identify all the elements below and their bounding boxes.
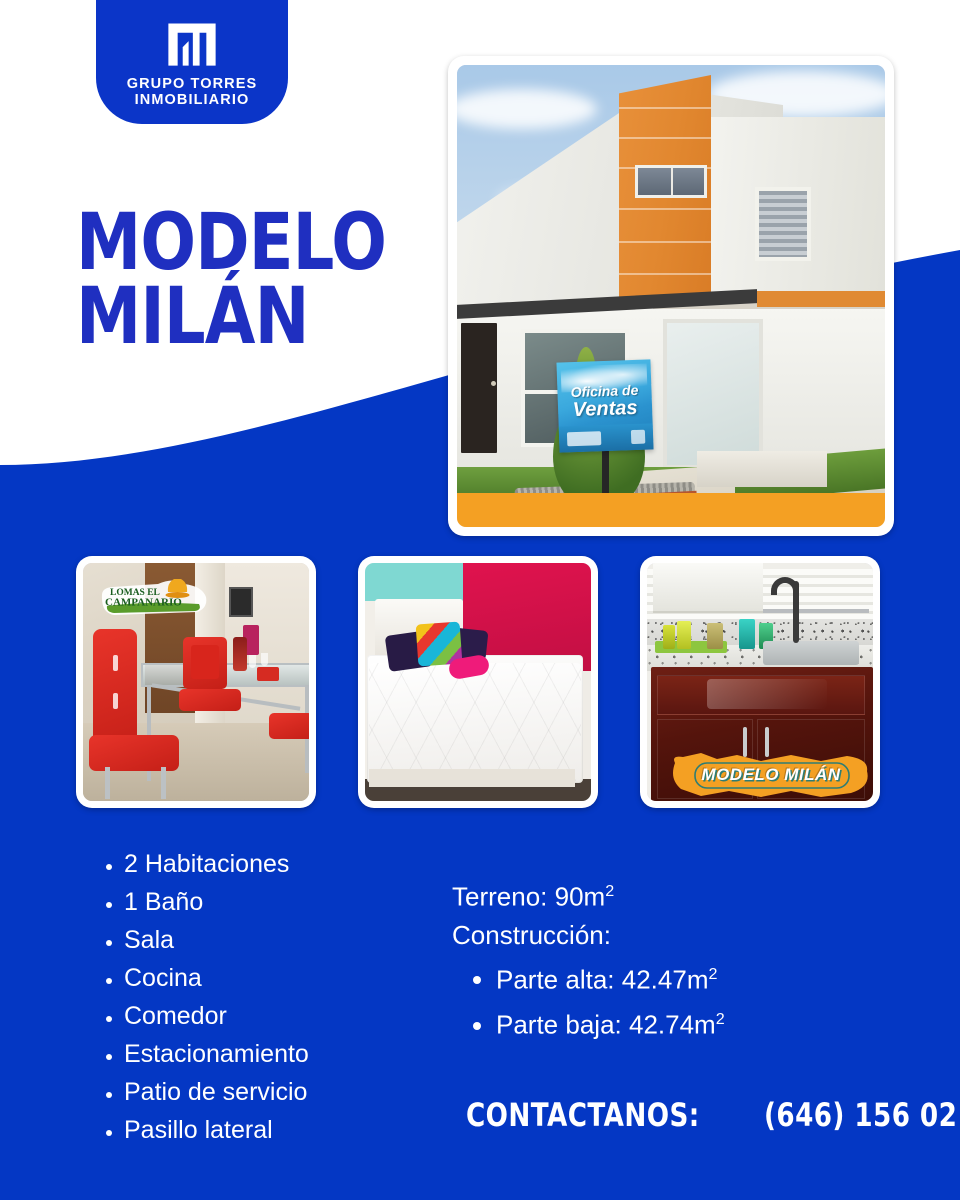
side-window-louvers xyxy=(755,187,811,261)
terreno-unit: 2 xyxy=(605,882,614,900)
photo-orange-strip xyxy=(457,493,885,527)
thumbnail-frame-bedroom xyxy=(358,556,598,808)
thumbnail-frame-dining: LOMAS EL CAMPANARIO xyxy=(76,556,316,808)
parte-alta-label: Parte alta: xyxy=(496,964,615,994)
terreno-value: 90m xyxy=(555,882,606,912)
construccion-label: Construcción: xyxy=(452,916,892,954)
brand-name-line2: INMOBILIARIO xyxy=(127,92,258,108)
oficina-de-ventas-sign: Oficina de Ventas xyxy=(556,359,653,452)
bed-base xyxy=(369,769,575,787)
badge-label: MODELO MILÁN xyxy=(671,765,871,785)
front-door xyxy=(461,323,497,453)
chair-slot xyxy=(113,655,118,671)
bedroom-photo xyxy=(365,563,591,801)
quilted-comforter xyxy=(369,663,581,781)
list-item: 2 Habitaciones xyxy=(124,845,464,883)
sign-line2: Ventas xyxy=(558,396,653,422)
red-bowl xyxy=(257,667,279,681)
wine-glass xyxy=(249,655,256,668)
yellow-jar xyxy=(663,625,675,649)
foreground-chair-seat xyxy=(89,735,179,771)
parte-baja-value: 42.74m xyxy=(629,1010,716,1040)
list-item: Pasillo lateral xyxy=(124,1111,464,1149)
range-hood xyxy=(653,563,763,613)
contact-phone[interactable]: (646) 156 02 36 xyxy=(764,1096,960,1134)
title-line-modelo: MODELO xyxy=(76,206,386,280)
title-line-milan: MILÁN xyxy=(76,280,386,354)
list-item: Cocina xyxy=(124,959,464,997)
modelo-milan-badge: MODELO MILÁN xyxy=(671,753,871,797)
list-item: Parte alta: 42.47m2 xyxy=(496,954,892,1000)
cabinet-sheen xyxy=(707,679,827,709)
thumbnail-frame-kitchen: MODELO MILÁN xyxy=(640,556,880,808)
features-list: 2 Habitaciones 1 Baño Sala Cocina Comedo… xyxy=(88,845,464,1149)
glass-sliding-door xyxy=(663,319,763,469)
lomas-el-campanario-watermark: LOMAS EL CAMPANARIO xyxy=(99,575,211,623)
gooseneck-faucet xyxy=(793,581,799,643)
brand-logo-badge: GRUPO TORRES INMOBILIARIO xyxy=(96,0,288,124)
chair-slot xyxy=(113,693,118,709)
list-item: Sala xyxy=(124,921,464,959)
contact-row: CONTACTANOS: (646) 156 02 36 xyxy=(466,1096,960,1134)
dining-photo: LOMAS EL CAMPANARIO xyxy=(83,563,309,801)
list-item: Estacionamiento xyxy=(124,1035,464,1073)
construccion-list: Parte alta: 42.47m2 Parte baja: 42.74m2 xyxy=(452,954,892,1045)
bedroom-teal-wall xyxy=(365,563,463,601)
wall-art xyxy=(229,587,253,617)
upper-window xyxy=(635,165,707,198)
chair-leg xyxy=(161,767,166,799)
contact-label: CONTACTANOS: xyxy=(466,1096,700,1134)
chair-leg xyxy=(105,767,110,799)
spice-jar xyxy=(707,623,723,649)
sign-logo-right xyxy=(631,430,645,444)
dining-chair-seat xyxy=(179,689,241,711)
list-item: Patio de servicio xyxy=(124,1073,464,1111)
brand-name-line1: GRUPO TORRES xyxy=(127,76,258,92)
terreno-label: Terreno: xyxy=(452,882,547,912)
door-knob xyxy=(491,381,496,386)
centerpiece xyxy=(233,637,247,671)
hero-photo: Oficina de Ventas xyxy=(457,65,885,527)
building-arch-icon xyxy=(165,15,219,69)
svg-text:CAMPANARIO: CAMPANARIO xyxy=(105,597,182,609)
poster-canvas: GRUPO TORRES INMOBILIARIO MODELO MILÁN xyxy=(0,0,960,1200)
entry-step xyxy=(697,451,827,487)
chair-panel xyxy=(191,645,219,679)
dining-chair-right xyxy=(269,713,309,739)
hero-photo-frame: Oficina de Ventas xyxy=(448,56,894,536)
window-rail xyxy=(763,609,869,613)
list-item: Parte baja: 42.74m2 xyxy=(496,999,892,1045)
wine-glass xyxy=(261,653,268,666)
parte-baja-unit: 2 xyxy=(716,1010,725,1028)
parte-alta-unit: 2 xyxy=(708,965,717,983)
parte-alta-value: 42.47m xyxy=(622,964,709,994)
kitchen-sink xyxy=(763,641,859,665)
eave-orange xyxy=(757,291,885,307)
page-title: MODELO MILÁN xyxy=(76,206,445,354)
parte-baja-label: Parte baja: xyxy=(496,1010,622,1040)
teal-jar xyxy=(739,619,755,649)
sign-logo-left xyxy=(567,431,601,446)
list-item: Comedor xyxy=(124,997,464,1035)
yellow-jar xyxy=(677,621,691,649)
terreno-line: Terreno: 90m2 xyxy=(452,872,892,916)
kitchen-photo: MODELO MILÁN xyxy=(647,563,873,801)
specifications-block: Terreno: 90m2 Construcción: Parte alta: … xyxy=(452,872,892,1045)
list-item: 1 Baño xyxy=(124,883,464,921)
